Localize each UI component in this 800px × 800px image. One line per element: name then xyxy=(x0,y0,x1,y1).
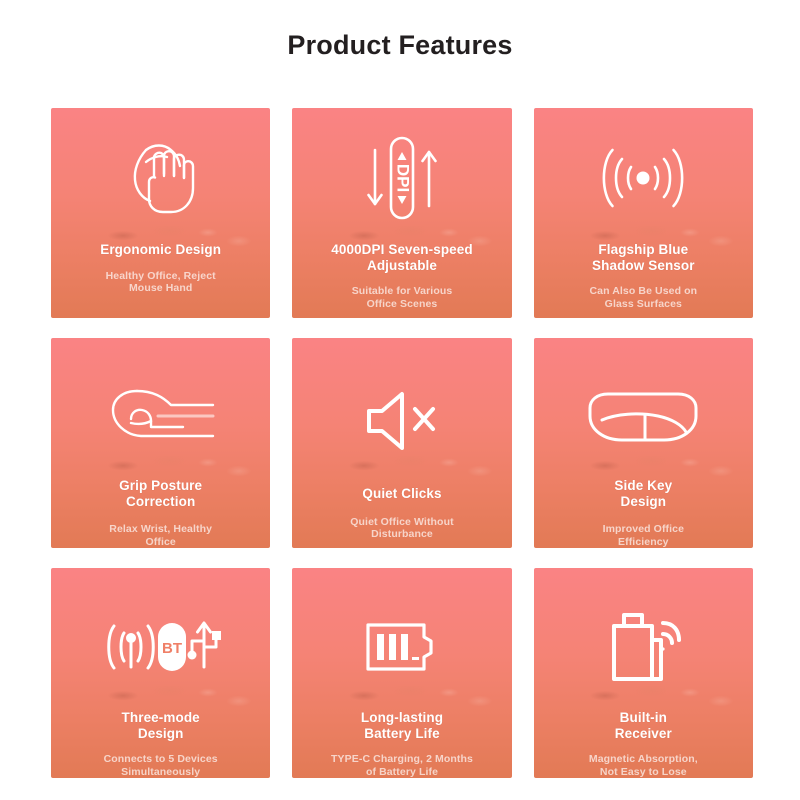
page-title: Product Features xyxy=(0,28,800,62)
feature-title: Side Key Design xyxy=(544,478,743,509)
feature-texts: Built-in Receiver Magnetic Absorption, N… xyxy=(534,710,753,778)
feature-card-grip-posture-correction[interactable]: Grip Posture Correction Relax Wrist, Hea… xyxy=(51,338,270,548)
grip-posture-hand-icon xyxy=(51,356,270,478)
usb-receiver-icon xyxy=(534,584,753,710)
feature-subtitle: Quiet Office Without Disturbance xyxy=(302,516,501,541)
feature-texts: Quiet Clicks Quiet Office Without Distur… xyxy=(292,486,511,541)
feature-subtitle: Magnetic Absorption, Not Easy to Lose xyxy=(544,753,743,778)
feature-title: 4000DPI Seven-speed Adjustable xyxy=(302,242,501,273)
feature-title: Ergonomic Design xyxy=(61,242,260,258)
feature-subtitle: Can Also Be Used on Glass Surfaces xyxy=(544,285,743,310)
feature-title: Quiet Clicks xyxy=(302,486,501,502)
feature-card-quiet-clicks[interactable]: Quiet Clicks Quiet Office Without Distur… xyxy=(292,338,511,548)
feature-subtitle: Healthy Office, Reject Mouse Hand xyxy=(61,270,260,295)
feature-card-built-in-receiver[interactable]: Built-in Receiver Magnetic Absorption, N… xyxy=(534,568,753,778)
svg-text:DPI: DPI xyxy=(394,164,413,192)
three-mode-connectivity-icon: BT xyxy=(51,584,270,710)
dpi-adjust-icon: DPI xyxy=(292,114,511,242)
feature-card-long-lasting-battery[interactable]: Long-lasting Battery Life TYPE-C Chargin… xyxy=(292,568,511,778)
feature-card-ergonomic-design[interactable]: Ergonomic Design Healthy Office, Reject … xyxy=(51,108,270,318)
sensor-waves-icon xyxy=(534,114,753,242)
feature-title: Built-in Receiver xyxy=(544,710,743,741)
feature-texts: Side Key Design Improved Office Efficien… xyxy=(534,478,753,548)
feature-subtitle: Improved Office Efficiency xyxy=(544,523,743,548)
feature-title: Grip Posture Correction xyxy=(61,478,260,509)
feature-subtitle: TYPE-C Charging, 2 Months of Battery Lif… xyxy=(302,753,501,778)
feature-card-three-mode-design[interactable]: BT Three-mode Design Connects to 5 Devic… xyxy=(51,568,270,778)
feature-texts: Long-lasting Battery Life TYPE-C Chargin… xyxy=(292,710,511,778)
feature-title: Three-mode Design xyxy=(61,710,260,741)
feature-card-blue-shadow-sensor[interactable]: Flagship Blue Shadow Sensor Can Also Be … xyxy=(534,108,753,318)
feature-title: Long-lasting Battery Life xyxy=(302,710,501,741)
product-features-page: Product Features Ergonomic Design Health… xyxy=(0,0,800,800)
feature-texts: 4000DPI Seven-speed Adjustable Suitable … xyxy=(292,242,511,310)
feature-texts: Grip Posture Correction Relax Wrist, Hea… xyxy=(51,478,270,548)
hand-on-mouse-icon xyxy=(51,114,270,242)
side-key-mouse-icon xyxy=(534,356,753,478)
feature-texts: Ergonomic Design Healthy Office, Reject … xyxy=(51,242,270,295)
feature-subtitle: Relax Wrist, Healthy Office xyxy=(61,523,260,548)
feature-title: Flagship Blue Shadow Sensor xyxy=(544,242,743,273)
feature-subtitle: Suitable for Various Office Scenes xyxy=(302,285,501,310)
feature-texts: Flagship Blue Shadow Sensor Can Also Be … xyxy=(534,242,753,310)
feature-subtitle: Connects to 5 Devices Simultaneously xyxy=(61,753,260,778)
feature-grid: Ergonomic Design Healthy Office, Reject … xyxy=(51,108,753,778)
mute-speaker-icon xyxy=(292,356,511,486)
svg-text:BT: BT xyxy=(162,640,182,657)
feature-texts: Three-mode Design Connects to 5 Devices … xyxy=(51,710,270,778)
battery-icon xyxy=(292,584,511,710)
feature-card-dpi-adjustable[interactable]: DPI 4000DPI Seven-speed Adjustable Suita… xyxy=(292,108,511,318)
feature-card-side-key-design[interactable]: Side Key Design Improved Office Efficien… xyxy=(534,338,753,548)
